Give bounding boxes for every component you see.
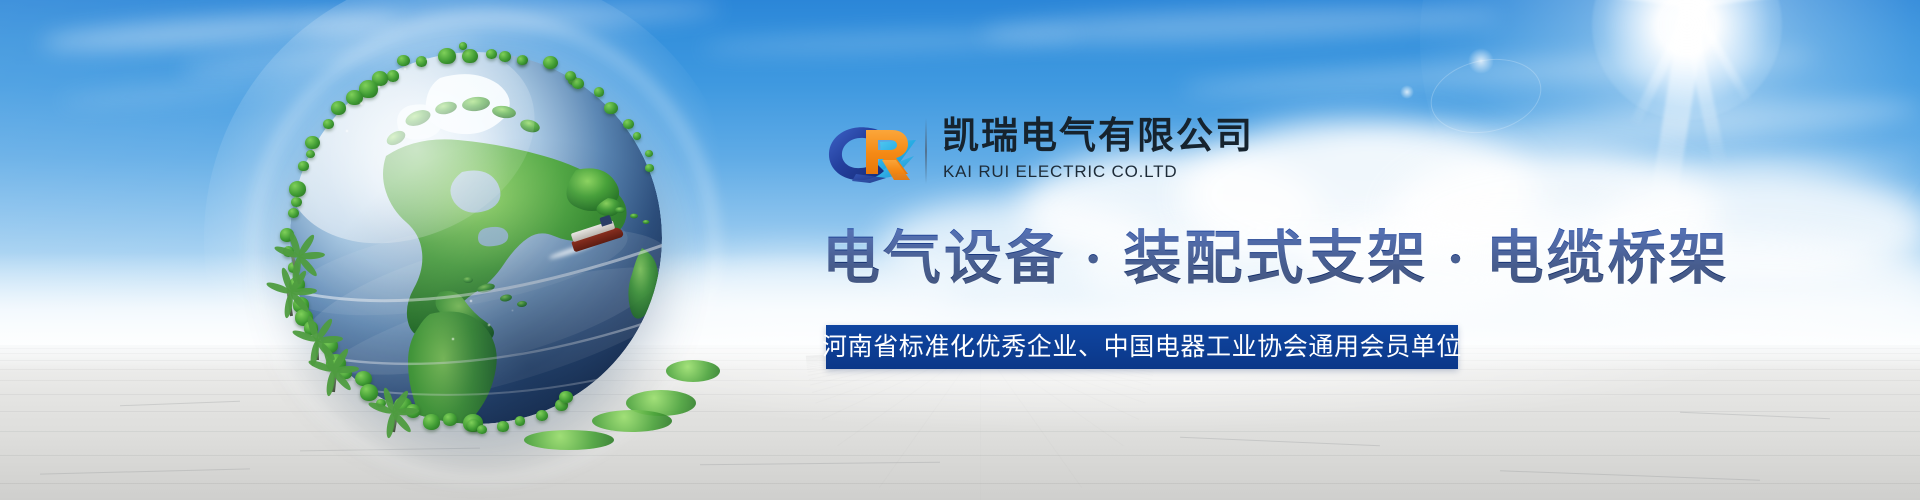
tree-icon [499, 51, 511, 62]
grass-patch [592, 410, 672, 432]
tree-icon [645, 164, 654, 172]
tree-icon [543, 56, 558, 69]
eco-globe [274, 38, 674, 438]
grass-patch [524, 430, 614, 450]
tree-icon [459, 42, 467, 50]
tree-icon [291, 197, 302, 207]
sparkle [470, 300, 472, 302]
sparkle [378, 86, 380, 88]
logo-divider [925, 118, 927, 184]
tree-icon [633, 132, 641, 140]
tree-icon [438, 48, 456, 64]
tree-icon [497, 421, 508, 431]
tree-icon [305, 136, 319, 149]
sparkle [426, 58, 428, 60]
tree-icon [423, 414, 440, 429]
sparkle [360, 102, 363, 105]
tree-icon [565, 71, 576, 81]
tree-icon [387, 70, 399, 81]
tree-icon [462, 49, 478, 63]
tree-icon [443, 413, 457, 426]
tree-icon [486, 49, 497, 59]
sparkle [452, 338, 454, 340]
cr-monogram-icon [826, 122, 918, 184]
slogan-text: 电气设备 · 装配式支架 · 电缆桥架 [822, 224, 1730, 294]
company-name-cn: 凯瑞电气有限公司 [942, 114, 1254, 158]
grass-patch [666, 360, 720, 382]
tree-icon [645, 150, 653, 157]
tree-icon [604, 102, 617, 114]
tree-icon [288, 208, 299, 218]
tree-icon [298, 161, 308, 170]
credentials-ribbon-text: 河南省标准化优秀企业、中国电器工业协会通用会员单位 [822, 325, 1462, 369]
tree-icon [515, 416, 526, 426]
company-logo-block[interactable]: 凯瑞电气有限公司 KAI RUI ELECTRIC CO.LTD [826, 112, 1246, 194]
tree-icon [331, 101, 346, 115]
tree-icon [477, 425, 487, 434]
lens-flare-dot [1468, 48, 1494, 74]
hero-banner: 凯瑞电气有限公司 KAI RUI ELECTRIC CO.LTD 电气设备 · … [0, 0, 1920, 500]
lens-flare-dot [1400, 85, 1414, 99]
tree-icon [323, 119, 334, 129]
tree-icon [289, 181, 306, 197]
tree-icon [397, 55, 410, 67]
tree-icon [594, 87, 604, 97]
tree-icon [559, 391, 572, 403]
company-name-en: KAI RUI ELECTRIC CO.LTD [943, 161, 1177, 183]
sparkle [346, 130, 348, 132]
tree-icon [360, 384, 379, 401]
tree-icon [306, 150, 315, 158]
tree-icon [517, 56, 527, 65]
credentials-ribbon: 河南省标准化优秀企业、中国电器工业协会通用会员单位 [826, 325, 1458, 369]
sparkle [488, 324, 490, 326]
